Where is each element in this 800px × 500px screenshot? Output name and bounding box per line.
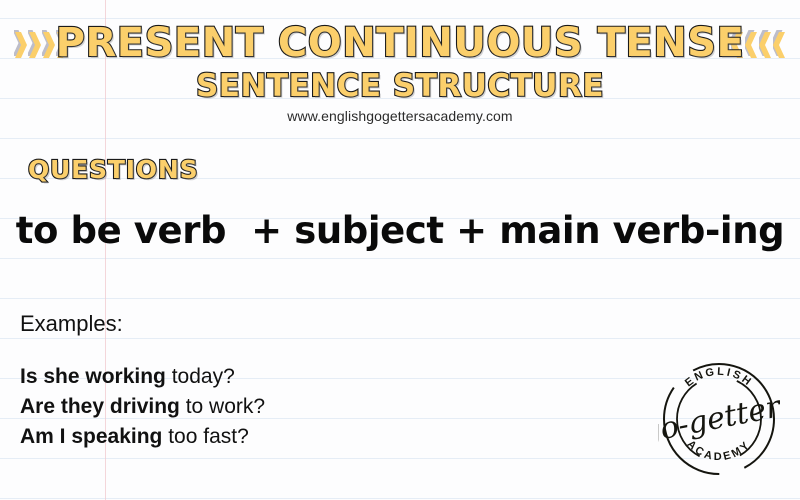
example-rest-part: today? [166,365,235,388]
page-title: PRESENT CONTINUOUS TENSE [0,20,800,66]
stamp-bottom-arc-text: ACADEMY [685,438,754,463]
example-bold-part: Am I speaking [20,425,162,448]
examples-list: Is she working today? Are they driving t… [20,362,540,452]
example-rest-part: to work? [180,395,265,418]
example-item: Is she working today? [20,362,540,392]
example-item: Are they driving to work? [20,392,540,422]
stamp-center-script-text: go-getters [658,387,780,451]
example-bold-part: Is she working [20,365,166,388]
go-getters-academy-logo: ENGLISH ACADEMY go-getters [658,358,780,480]
examples-label: Examples: [20,310,123,338]
stamp-icon: ENGLISH ACADEMY go-getters [658,358,780,480]
example-rest-part: too fast? [162,425,248,448]
section-heading-questions: QUESTIONS [28,155,198,185]
example-bold-part: Are they driving [20,395,180,418]
page-subtitle: SENTENCE STRUCTURE [0,68,800,104]
example-item: Am I speaking too fast? [20,422,540,452]
sentence-structure-formula: to be verb + subject + main verb-ing [0,206,800,256]
website-url: www.englishgogettersacademy.com [0,108,800,124]
slide-canvas: PRESENT CONTINUOUS TENSE SENTENCE STRUCT… [0,0,800,500]
